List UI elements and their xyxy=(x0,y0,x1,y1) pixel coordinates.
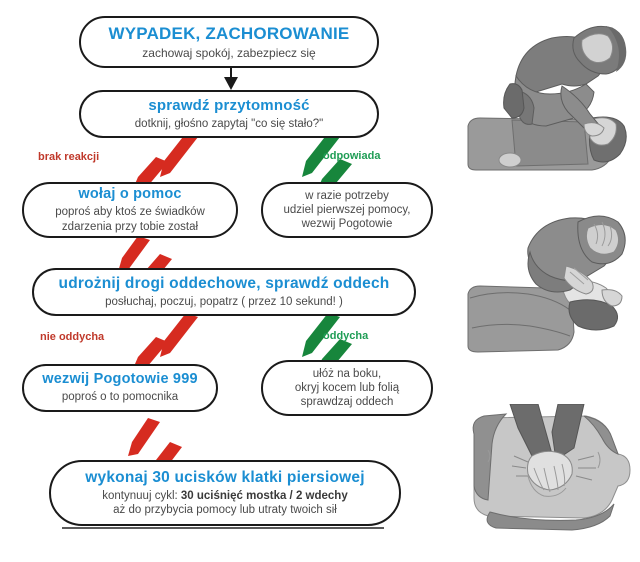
node-call-ambulance: wezwij Pogotowie 999 poproś o to pomocni… xyxy=(22,364,218,412)
node-if-needed-line3: wezwij Pogotowie xyxy=(302,217,393,231)
node-open-airway: udrożnij drogi oddechowe, sprawdź oddech… xyxy=(32,268,416,316)
node-call-for-help-line2: zdarzenia przy tobie został xyxy=(62,220,198,234)
node-open-airway-title: udrożnij drogi oddechowe, sprawdź oddech xyxy=(59,275,390,293)
photo-check-response xyxy=(466,14,632,186)
arrow-not-breathing xyxy=(120,311,204,371)
node-compressions-title: wykonaj 30 ucisków klatki piersiowej xyxy=(85,469,364,487)
node-compressions-line2-prefix: kontynuuj cykl: xyxy=(102,490,181,502)
photo-check-breathing xyxy=(466,204,632,384)
node-recovery-position-line1: ułóż na boku, xyxy=(313,367,381,381)
node-call-for-help-title: wołaj o pomoc xyxy=(78,186,181,203)
node-accident: WYPADEK, ZACHOROWANIE zachowaj spokój, z… xyxy=(79,16,379,68)
node-call-ambulance-title: wezwij Pogotowie 999 xyxy=(42,371,197,388)
node-if-needed: w razie potrzeby udziel pierwszej pomocy… xyxy=(261,182,433,238)
node-open-airway-line1: posłuchaj, poczuj, popatrz ( przez 10 se… xyxy=(105,295,343,309)
node-compressions-line2-bold: 30 uciśnięć mostka / 2 wdechy xyxy=(181,490,348,502)
branch-label-responds: odpowiada xyxy=(323,150,380,162)
node-check-consciousness-line1: dotknij, głośno zapytaj "co się stało?" xyxy=(135,117,323,131)
node-compressions-line3: aż do przybycia pomocy lub utraty twoich… xyxy=(113,503,337,517)
node-recovery-position-line3: sprawdzaj oddech xyxy=(301,395,394,409)
bottom-divider xyxy=(62,527,384,529)
photo-chest-compressions xyxy=(466,404,632,554)
node-compressions-line2: kontynuuj cykl: 30 uciśnięć mostka / 2 w… xyxy=(102,489,347,503)
node-call-for-help-line1: poproś aby ktoś ze świadków xyxy=(55,205,205,219)
node-call-ambulance-line1: poproś o to pomocnika xyxy=(62,390,178,404)
node-compressions: wykonaj 30 ucisków klatki piersiowej kon… xyxy=(49,460,401,526)
node-if-needed-line1: w razie potrzeby xyxy=(305,189,389,203)
branch-label-no-response: brak reakcji xyxy=(38,151,99,163)
node-recovery-position: ułóż na boku, okryj kocem lub folią spra… xyxy=(261,360,433,416)
node-accident-title: WYPADEK, ZACHOROWANIE xyxy=(109,24,350,44)
first-aid-flowchart: WYPADEK, ZACHOROWANIE zachowaj spokój, z… xyxy=(0,0,640,562)
node-check-consciousness: sprawdź przytomność dotknij, głośno zapy… xyxy=(79,90,379,138)
node-accident-line1: zachowaj spokój, zabezpiecz się xyxy=(142,46,315,61)
node-call-for-help: wołaj o pomoc poproś aby ktoś ze świadkó… xyxy=(22,182,238,238)
branch-label-not-breathing: nie oddycha xyxy=(40,331,104,343)
node-recovery-position-line2: okryj kocem lub folią xyxy=(295,381,399,395)
node-if-needed-line2: udziel pierwszej pomocy, xyxy=(284,203,411,217)
branch-label-breathing: oddycha xyxy=(323,330,368,342)
node-check-consciousness-title: sprawdź przytomność xyxy=(148,97,309,115)
